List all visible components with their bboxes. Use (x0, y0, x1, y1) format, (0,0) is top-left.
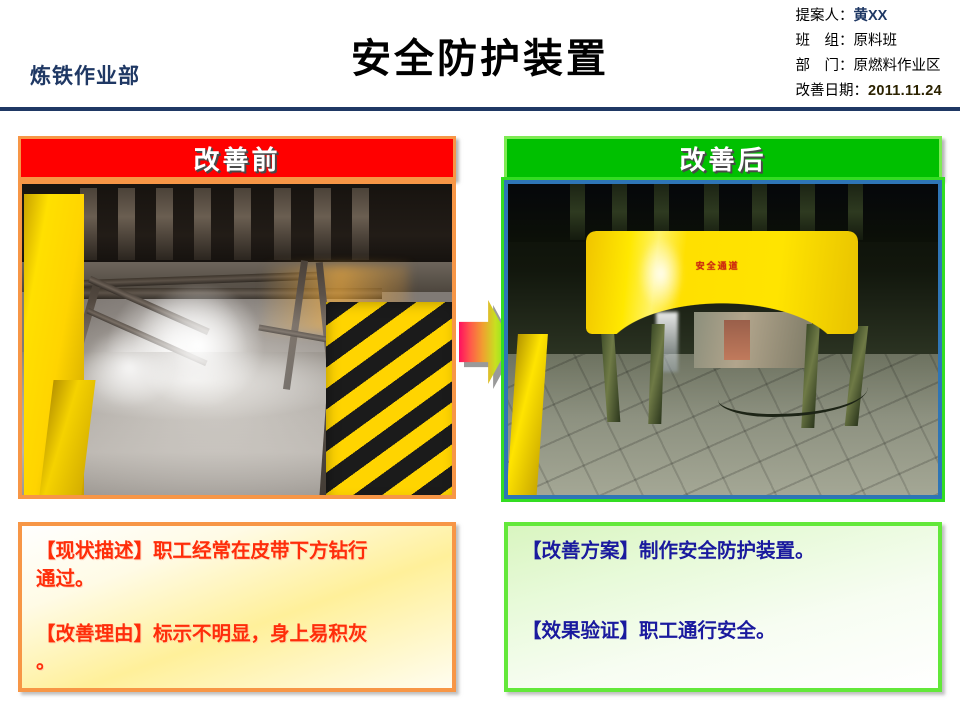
meta-row-department: 部 门：原燃料作业区 (796, 54, 942, 79)
meta-label-date: 改善日期： (796, 83, 869, 99)
meta-row-proposer: 提案人：黄XX (796, 4, 942, 29)
textbox-before: 【现状描述】职工经常在皮带下方钻行 通过。 【改善理由】标示不明显，身上易积灰 … (18, 522, 456, 692)
photo-after-safety-arch: 安全通道 (586, 231, 858, 334)
meta-label-proposer: 提案人： (796, 8, 854, 24)
panel-after: 改善后 (504, 136, 942, 499)
meta-value-department: 原燃料作业区 (854, 58, 941, 74)
header-divider-rule (0, 107, 960, 111)
meta-value-proposer: 黄XX (854, 8, 888, 24)
textbox-after-line-2: 【效果验证】职工通行安全。 (522, 618, 924, 646)
textbox-after-line-1: 【改善方案】制作安全防护装置。 (522, 538, 924, 566)
textbox-before-line-1: 【现状描述】职工经常在皮带下方钻行 (36, 538, 438, 566)
banner-after: 改善后 (504, 136, 942, 180)
meta-row-date: 改善日期：2011.11.24 (796, 79, 942, 104)
photo-before-glare-secondary (82, 327, 177, 408)
textbox-after-spacer-2 (522, 592, 924, 618)
photo-after: 安全通道 (504, 180, 942, 499)
photo-after-canvas: 安全通道 (508, 184, 938, 495)
photo-after-safety-arch-body (586, 231, 858, 334)
slide-canvas: 炼铁作业部 安全防护装置 提案人：黄XX 班 组：原料班 部 门：原燃料作业区 … (0, 0, 960, 720)
proposal-meta-block: 提案人：黄XX 班 组：原料班 部 门：原燃料作业区 改善日期：2011.11.… (796, 4, 942, 104)
meta-label-department: 部 门： (796, 58, 854, 74)
photo-after-arch-label: 安全通道 (696, 259, 740, 272)
meta-label-team: 班 组： (796, 33, 854, 49)
textbox-before-line-3: 【改善理由】标示不明显，身上易积灰 (36, 621, 438, 649)
textbox-after: 【改善方案】制作安全防护装置。 【效果验证】职工通行安全。 (504, 522, 942, 692)
photo-before (18, 180, 456, 499)
photo-after-arch-glare (638, 237, 684, 311)
textbox-after-spacer (522, 566, 924, 592)
meta-value-team: 原料班 (854, 33, 898, 49)
textbox-before-line-4: 。 (36, 649, 438, 677)
meta-row-team: 班 组：原料班 (796, 29, 942, 54)
textbox-before-line-2: 通过。 (36, 566, 438, 594)
banner-before: 改善前 (18, 136, 456, 180)
meta-value-date: 2011.11.24 (868, 83, 942, 99)
panel-before: 改善前 (18, 136, 456, 499)
photo-before-hazard-stripes (326, 302, 452, 495)
photo-before-canvas (22, 184, 452, 495)
photo-after-joist (570, 184, 585, 240)
textbox-before-spacer (36, 595, 438, 621)
